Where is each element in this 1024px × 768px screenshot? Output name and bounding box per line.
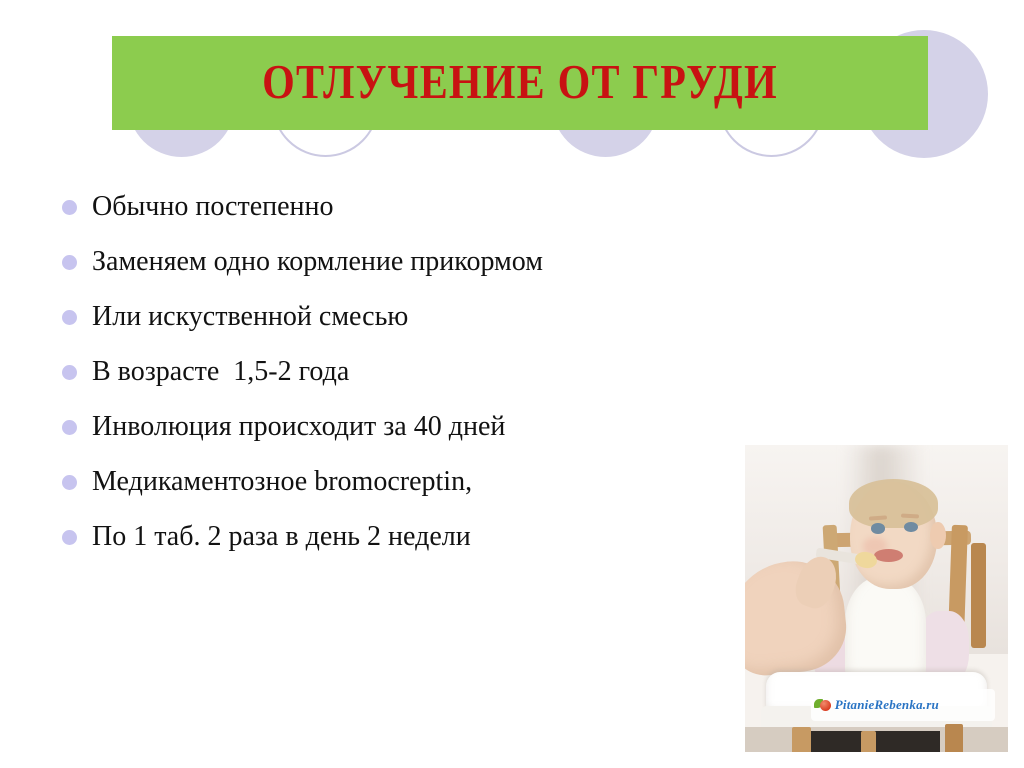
slide-root: ОТЛУЧЕНИЕ ОТ ГРУДИ Обычно постепенно Зам… <box>0 0 1024 768</box>
baby-eye-right <box>904 522 918 532</box>
bullet-dot-icon <box>62 255 77 270</box>
page-title: ОТЛУЧЕНИЕ ОТ ГРУДИ <box>262 59 778 108</box>
bullet-dot-icon <box>62 365 77 380</box>
baby-bib <box>845 577 927 688</box>
bullet-dot-icon <box>62 475 77 490</box>
high-chair-leg-2 <box>861 731 877 753</box>
bullet-dot-icon <box>62 530 77 545</box>
bullet-text: Или искуственной смесью <box>92 299 408 335</box>
list-item: Медикаментозное bromocreptin, <box>62 464 762 519</box>
bullet-text: Заменяем одно кормление прикормом <box>92 244 543 280</box>
list-item: Инволюция происходит за 40 дней <box>62 409 762 464</box>
baby-eyebrow-left <box>868 515 887 520</box>
photo-illustration: PitanieRebenka.ru <box>745 445 1008 752</box>
bullet-list: Обычно постепенно Заменяем одно кормлени… <box>62 189 762 574</box>
bullet-text: По 1 таб. 2 раза в день 2 недели <box>92 519 471 555</box>
tomato-apple-icon <box>814 698 831 713</box>
baby-hair <box>849 479 938 528</box>
bullet-text: Медикаментозное bromocreptin, <box>92 464 472 500</box>
list-item: Заменяем одно кормление прикормом <box>62 244 762 299</box>
high-chair-post-right-2 <box>971 543 985 647</box>
list-item: Или искуственной смесью <box>62 299 762 354</box>
bullet-dot-icon <box>62 310 77 325</box>
high-chair-leg-3 <box>945 724 963 752</box>
bullet-text: В возрасте 1,5-2 года <box>92 354 349 390</box>
high-chair-leg-1 <box>792 727 810 752</box>
baby-eye-left <box>871 523 885 533</box>
title-banner: ОТЛУЧЕНИЕ ОТ ГРУДИ <box>112 36 928 130</box>
bullet-text: Обычно постепенно <box>92 189 334 225</box>
bullet-dot-icon <box>62 420 77 435</box>
bullet-dot-icon <box>62 200 77 215</box>
list-item: Обычно постепенно <box>62 189 762 244</box>
list-item: В возрасте 1,5-2 года <box>62 354 762 409</box>
watermark-text: PitanieRebenka.ru <box>835 697 939 713</box>
baby-feeding-photo: PitanieRebenka.ru <box>745 445 1008 752</box>
photo-watermark: PitanieRebenka.ru <box>811 689 995 721</box>
list-item: По 1 таб. 2 раза в день 2 недели <box>62 519 762 574</box>
bullet-text: Инволюция происходит за 40 дней <box>92 409 505 445</box>
baby-eyebrow-right <box>901 513 920 518</box>
